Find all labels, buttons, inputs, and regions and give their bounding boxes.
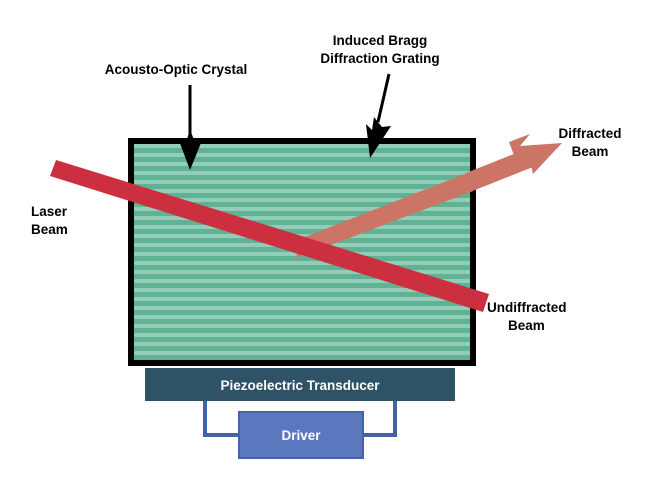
bragg-grating-label-line2: Diffraction Grating xyxy=(320,51,439,66)
driver-group: Driver xyxy=(239,412,363,458)
piezoelectric-transducer-group: Piezoelectric Transducer xyxy=(145,368,455,401)
diffracted-beam-label-group: Diffracted Beam xyxy=(558,126,621,159)
laser-beam-label-group: Laser Beam xyxy=(31,204,68,237)
diffracted-beam-label-line1: Diffracted xyxy=(558,126,621,141)
diffracted-beam-arrowhead xyxy=(509,134,562,174)
wire-left xyxy=(205,401,241,435)
bragg-grating-callout-line xyxy=(378,74,389,122)
diagram-canvas: Piezoelectric Transducer Driver Acousto-… xyxy=(0,0,650,479)
undiffracted-beam-label-group: Undiffracted Beam xyxy=(487,300,567,333)
wire-right xyxy=(361,401,395,435)
bragg-grating-label-line1: Induced Bragg xyxy=(333,33,428,48)
driver-label: Driver xyxy=(281,428,321,443)
laser-beam-label-line1: Laser xyxy=(31,204,68,219)
laser-beam-label-line2: Beam xyxy=(31,222,68,237)
acousto-optic-crystal-label: Acousto-Optic Crystal xyxy=(105,62,248,77)
undiffracted-beam-label-line2: Beam xyxy=(508,318,545,333)
diffracted-beam-label-line2: Beam xyxy=(572,144,609,159)
piezoelectric-transducer-label: Piezoelectric Transducer xyxy=(220,378,380,393)
undiffracted-beam-label-line1: Undiffracted xyxy=(487,300,567,315)
acousto-optic-modulator-diagram: Piezoelectric Transducer Driver Acousto-… xyxy=(0,0,650,479)
